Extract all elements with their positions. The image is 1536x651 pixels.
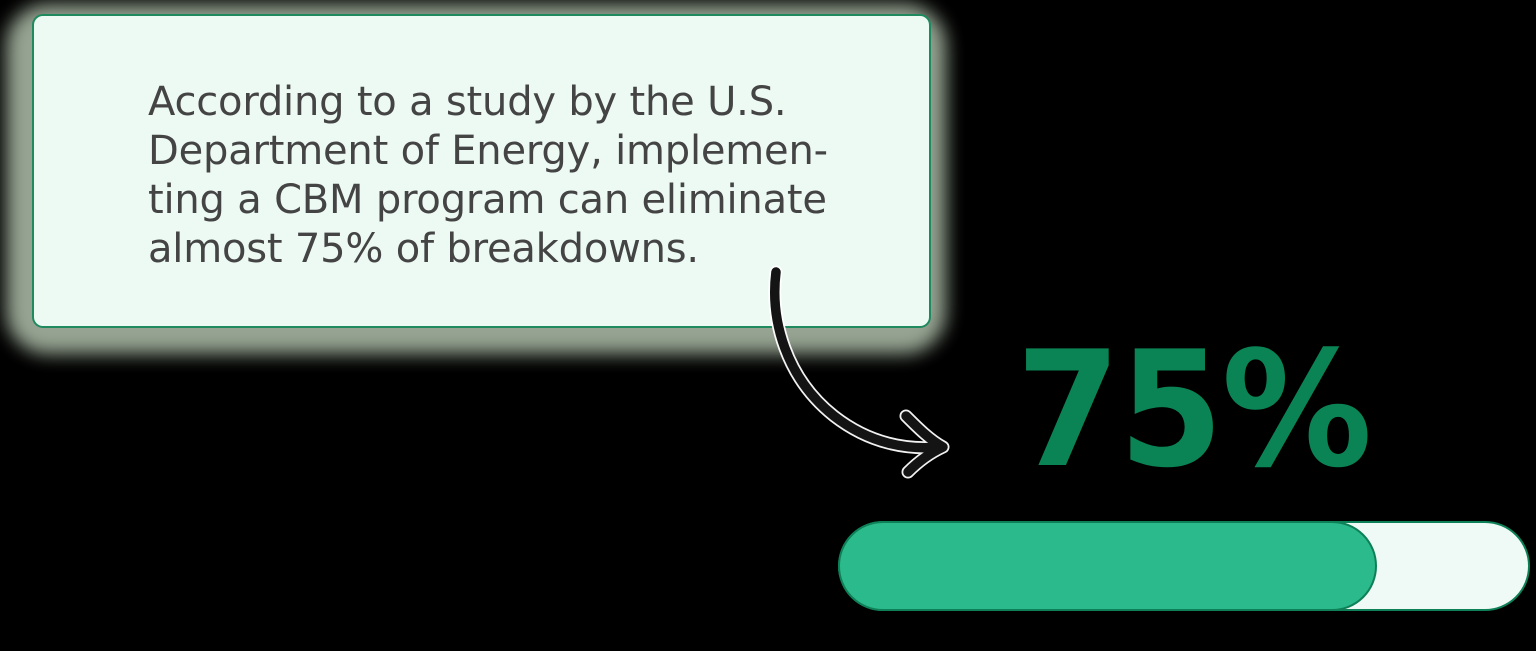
progress-bar-fill <box>838 521 1377 611</box>
progress-bar-track[interactable] <box>838 521 1530 611</box>
curved-arrow-down-right-icon <box>740 250 970 480</box>
percent-value-label: 75% <box>1016 330 1370 490</box>
callout-body-text: According to a study by the U.S. Departm… <box>148 78 888 274</box>
infographic-canvas: According to a study by the U.S. Departm… <box>0 0 1536 651</box>
